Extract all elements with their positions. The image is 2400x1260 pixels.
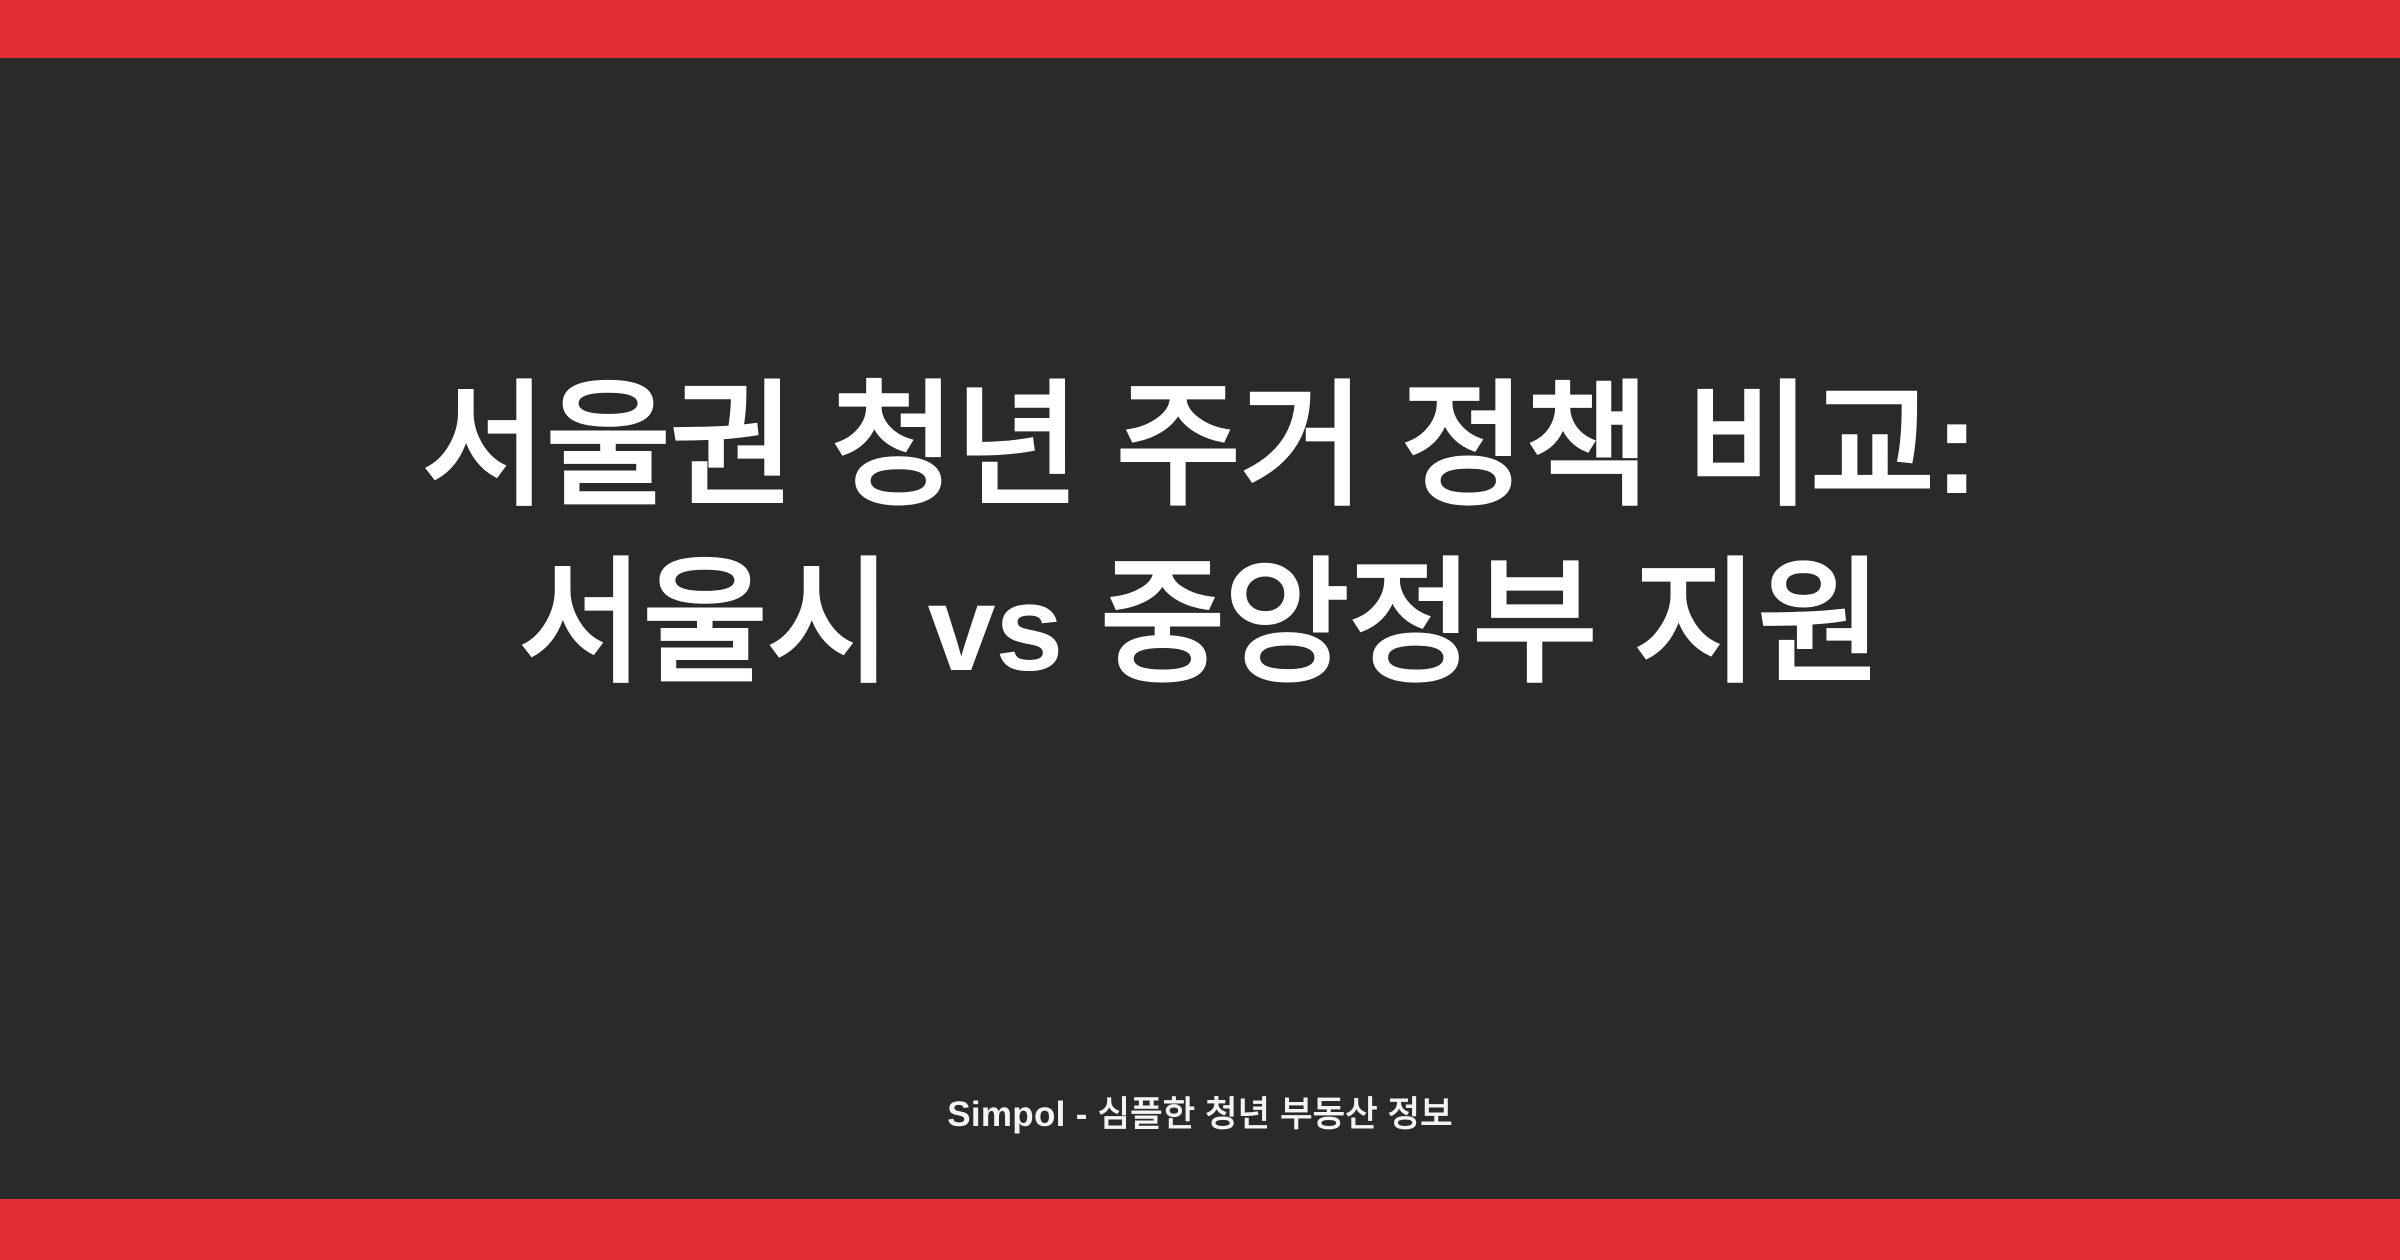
title-block: 서울권 청년 주거 정책 비교: 서울시 vs 중앙정부 지원 bbox=[0, 358, 2400, 712]
slide-stage: 서울권 청년 주거 정책 비교: 서울시 vs 중앙정부 지원 Simpol -… bbox=[0, 58, 2400, 1199]
top-accent-bar bbox=[0, 0, 2400, 58]
title-line-2: 서울시 vs 중앙정부 지원 bbox=[120, 535, 2280, 712]
title-line-2-suffix: 중앙정부 지원 bbox=[1063, 547, 1881, 699]
bottom-accent-bar bbox=[0, 1199, 2400, 1260]
title-slide: 서울권 청년 주거 정책 비교: 서울시 vs 중앙정부 지원 Simpol -… bbox=[0, 0, 2400, 1260]
brand-label: Simpol - 심플한 청년 부동산 정보 bbox=[947, 1086, 1453, 1137]
title-line-1: 서울권 청년 주거 정책 비교: bbox=[120, 358, 2280, 535]
title-line-2-versus: vs bbox=[928, 560, 1064, 696]
title-line-2-prefix: 서울시 bbox=[518, 547, 927, 699]
brand-block: Simpol - 심플한 청년 부동산 정보 bbox=[0, 1086, 2400, 1137]
